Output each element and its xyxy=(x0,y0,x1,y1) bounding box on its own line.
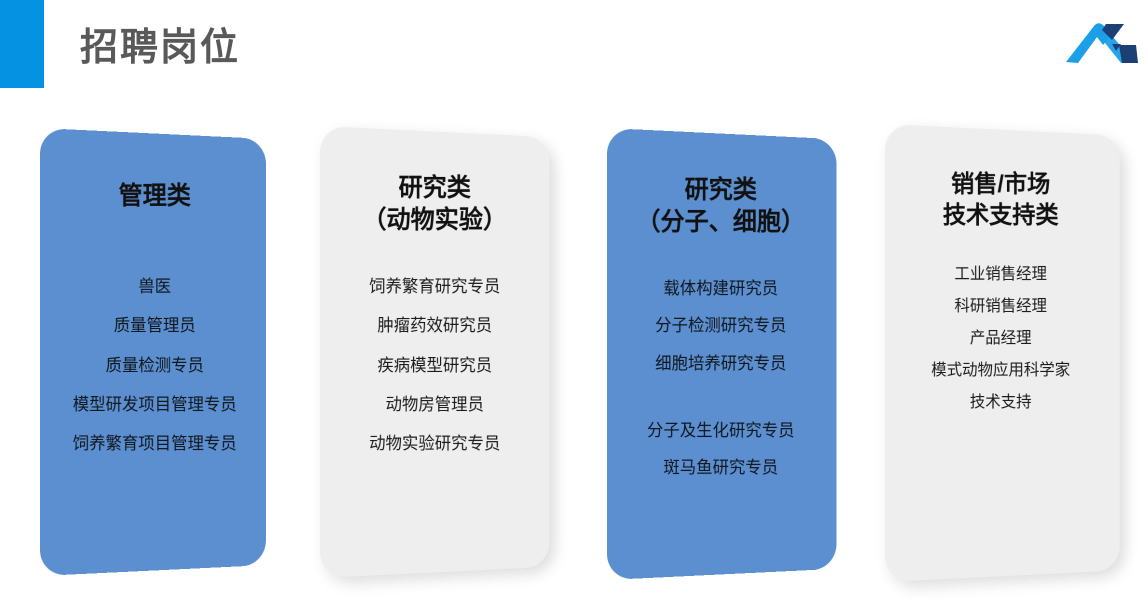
panel-content: 研究类 （分子、细胞） 载体构建研究员 分子检测研究专员 细胞培养研究专员 分子… xyxy=(607,128,844,580)
panel-title: 销售/市场 技术支持类 xyxy=(943,170,1059,232)
job-list-item[interactable]: 兽医 xyxy=(40,276,270,297)
panel-title: 研究类 （分子、细胞） xyxy=(636,174,805,238)
job-category-panel-sales-market-support[interactable]: 销售/市场 技术支持类 工业销售经理 科研销售经理 产品经理 模式动物应用科学家… xyxy=(885,124,1120,582)
job-category-panel-research-animal[interactable]: 研究类 （动物实验） 饲养繁育研究专员 肿瘤药效研究员 疾病模型研究员 动物房管… xyxy=(320,126,550,578)
job-list-spacer xyxy=(607,390,835,404)
job-list-item[interactable]: 动物实验研究专员 xyxy=(320,433,550,454)
job-list-item[interactable]: 动物房管理员 xyxy=(320,394,550,415)
job-list-item[interactable]: 饲养繁育项目管理专员 xyxy=(40,433,270,454)
job-list-item[interactable]: 载体构建研究员 xyxy=(607,278,835,299)
job-list-item[interactable]: 工业销售经理 xyxy=(885,265,1116,285)
job-category-panel-management[interactable]: 管理类 兽医 质量管理员 质量检测专员 模型研发项目管理专员 饲养繁育项目管理专… xyxy=(40,128,266,576)
job-list: 载体构建研究员 分子检测研究专员 细胞培养研究专员 分子及生化研究专员 斑马鱼研… xyxy=(607,278,835,494)
panel-title: 研究类 （动物实验） xyxy=(362,172,507,236)
panel-content: 管理类 兽医 质量管理员 质量检测专员 模型研发项目管理专员 饲养繁育项目管理专… xyxy=(40,128,273,576)
job-list: 兽医 质量管理员 质量检测专员 模型研发项目管理专员 饲养繁育项目管理专员 xyxy=(40,276,270,472)
job-list-item[interactable]: 技术支持 xyxy=(885,393,1116,413)
job-list-item[interactable]: 质量检测专员 xyxy=(40,355,270,376)
job-list-item[interactable]: 质量管理员 xyxy=(40,315,270,336)
job-list-item[interactable]: 科研销售经理 xyxy=(885,297,1116,317)
job-list-item[interactable]: 模型研发项目管理专员 xyxy=(40,394,270,415)
job-list-item[interactable]: 疾病模型研究员 xyxy=(320,355,550,376)
panel-content: 研究类 （动物实验） 饲养繁育研究专员 肿瘤药效研究员 疾病模型研究员 动物房管… xyxy=(320,126,557,578)
job-list-item[interactable]: 模式动物应用科学家 xyxy=(885,361,1116,381)
job-category-panels: 管理类 兽医 质量管理员 质量检测专员 模型研发项目管理专员 饲养繁育项目管理专… xyxy=(0,0,1148,616)
job-list-item[interactable]: 产品经理 xyxy=(885,329,1116,349)
job-list-item[interactable]: 细胞培养研究专员 xyxy=(607,352,835,373)
job-list-item[interactable]: 肿瘤药效研究员 xyxy=(320,315,550,336)
job-list-item[interactable]: 分子检测研究专员 xyxy=(607,315,835,336)
job-list-item[interactable]: 斑马鱼研究专员 xyxy=(607,457,835,478)
panel-content: 销售/市场 技术支持类 工业销售经理 科研销售经理 产品经理 模式动物应用科学家… xyxy=(885,124,1128,582)
job-list-item[interactable]: 饲养繁育研究专员 xyxy=(320,276,550,297)
job-list: 工业销售经理 科研销售经理 产品经理 模式动物应用科学家 技术支持 xyxy=(885,265,1116,425)
panel-title: 管理类 xyxy=(119,180,191,212)
job-list-item[interactable]: 分子及生化研究专员 xyxy=(607,420,835,441)
job-list: 饲养繁育研究专员 肿瘤药效研究员 疾病模型研究员 动物房管理员 动物实验研究专员 xyxy=(320,276,550,472)
job-category-panel-research-molecular-cell[interactable]: 研究类 （分子、细胞） 载体构建研究员 分子检测研究专员 细胞培养研究专员 分子… xyxy=(607,128,837,580)
